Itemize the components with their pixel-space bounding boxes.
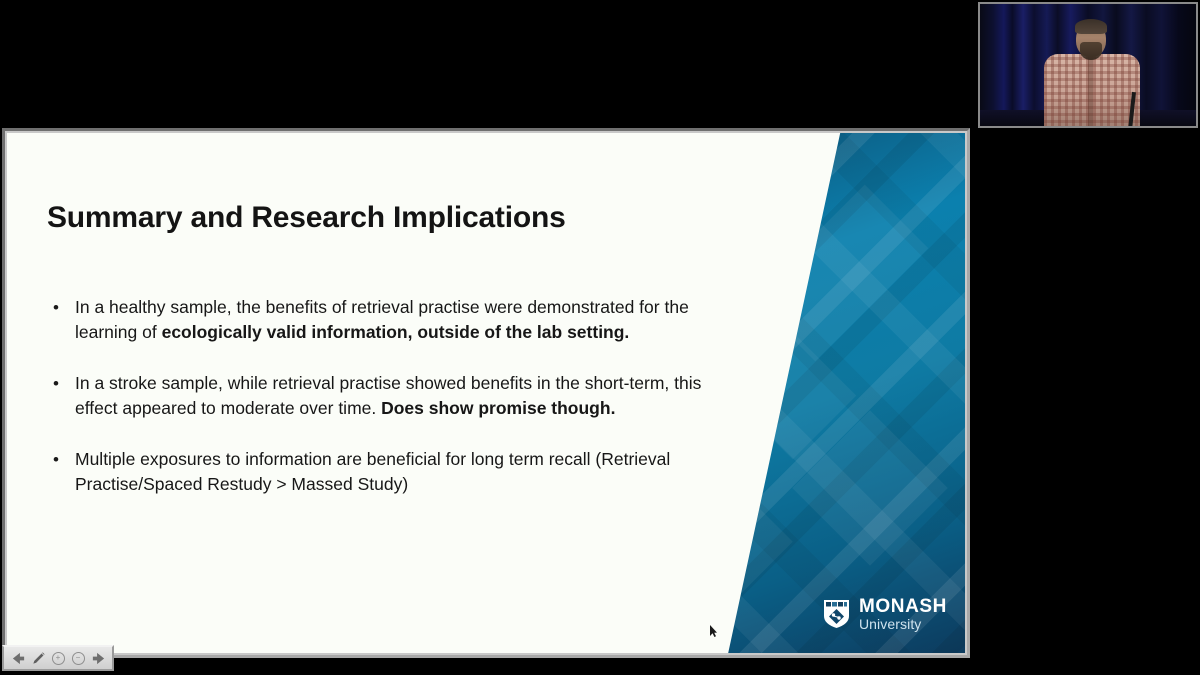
slide-controls-toolbar[interactable]: + −: [2, 645, 114, 671]
bullet-item: •In a stroke sample, while retrieval pra…: [53, 371, 733, 421]
bullet-text: Multiple exposures to information are be…: [75, 447, 733, 497]
zoom-in-icon[interactable]: +: [50, 650, 66, 666]
zoom-out-ring: −: [72, 652, 85, 665]
bullet-marker-icon: •: [53, 447, 75, 497]
slide-bullet-list: •In a healthy sample, the benefits of re…: [53, 295, 733, 523]
video-backdrop: [980, 4, 1196, 126]
slide-title: Summary and Research Implications: [47, 201, 566, 235]
art-block: [792, 410, 948, 566]
bullet-text: In a healthy sample, the benefits of ret…: [75, 295, 733, 345]
lecture-recording-screen: Summary and Research Implications •In a …: [0, 0, 1200, 675]
bullet-marker-icon: •: [53, 371, 75, 421]
bullet-marker-icon: •: [53, 295, 75, 345]
shield-crest-icon: [823, 599, 850, 629]
bullet-text-plain: Multiple exposures to information are be…: [75, 449, 670, 494]
arrow-left-icon[interactable]: [10, 650, 26, 666]
presentation-slide[interactable]: Summary and Research Implications •In a …: [7, 133, 965, 653]
slide-viewer-frame: Summary and Research Implications •In a …: [2, 128, 970, 658]
arrow-right-icon[interactable]: [90, 650, 106, 666]
bullet-text-bold: Does show promise though.: [381, 398, 615, 418]
bullet-text-bold: ecologically valid information, outside …: [162, 322, 630, 342]
monash-logo-name: MONASH: [859, 597, 947, 616]
zoom-out-glyph: −: [76, 654, 81, 662]
pencil-icon[interactable]: [30, 650, 46, 666]
speaker-beard: [1080, 42, 1102, 60]
speaker-shirt-placket: [1088, 56, 1093, 126]
presenter-video-panel[interactable]: [978, 2, 1198, 128]
monash-wordmark: MONASH University: [859, 597, 947, 631]
bullet-item: •In a healthy sample, the benefits of re…: [53, 295, 733, 345]
speaker-hair: [1075, 19, 1107, 34]
bullet-text: In a stroke sample, while retrieval prac…: [75, 371, 733, 421]
zoom-in-ring: +: [52, 652, 65, 665]
art-block: [752, 185, 929, 362]
monash-university-logo: MONASH University: [823, 597, 947, 631]
mouse-pointer-icon: [709, 624, 718, 638]
art-block: [660, 133, 830, 268]
zoom-in-glyph: +: [56, 654, 61, 662]
bullet-item: •Multiple exposures to information are b…: [53, 447, 733, 497]
monash-logo-subtitle: University: [859, 617, 947, 631]
zoom-out-icon[interactable]: −: [70, 650, 86, 666]
